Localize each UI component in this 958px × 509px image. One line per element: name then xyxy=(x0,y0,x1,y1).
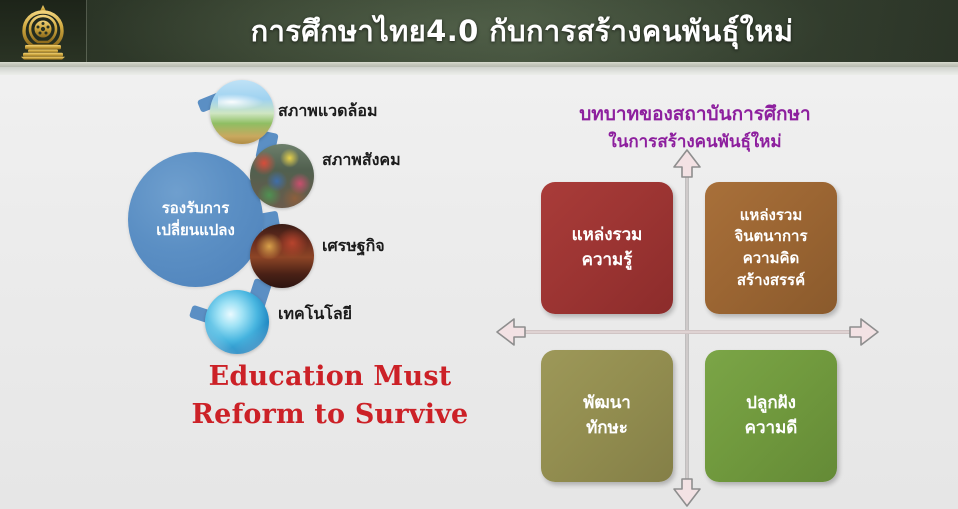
quadrant-bl-line-1: พัฒนา xyxy=(583,391,631,416)
crowd-of-people-photo xyxy=(250,144,314,208)
node-economy xyxy=(250,224,314,288)
arrow-down-icon xyxy=(671,478,703,508)
quadrant-creativity-hub[interactable]: แหล่งรวม จินตนาการ ความคิด สร้างสรรค์ xyxy=(705,182,837,314)
hub-label-line1: รองรับการ xyxy=(162,198,230,220)
slide-canvas: การศึกษาไทย4.0 กับการสร้างคนพันธุ์ใหม่ ร… xyxy=(0,0,958,509)
quadrant-tr-line-2: จินตนาการ xyxy=(734,226,807,248)
quadrant-knowledge-hub[interactable]: แหล่งรวม ความรู้ xyxy=(541,182,673,314)
node-technology xyxy=(205,290,269,354)
quadrant-tr-line-4: สร้างสรรค์ xyxy=(734,270,807,292)
node-label-environment: สภาพแวดล้อม xyxy=(278,99,378,124)
node-label-technology: เทคโนโลยี xyxy=(278,302,352,327)
right-heading-main: บทบาทของสถาบันการศึกษา xyxy=(520,100,870,129)
node-society xyxy=(250,144,314,208)
thai-ministry-emblem-icon xyxy=(12,2,74,60)
quadrant-tl-line-2: ความรู้ xyxy=(572,248,643,273)
node-label-society: สภาพสังคม xyxy=(322,148,401,173)
quadrant-bl-line-2: ทักษะ xyxy=(583,416,631,441)
arrow-right-icon xyxy=(848,316,880,348)
market-economy-photo xyxy=(250,224,314,288)
role-quadrant-matrix: แหล่งรวม ความรู้ แหล่งรวม จินตนาการ ความ… xyxy=(505,160,870,505)
arrow-up-icon xyxy=(671,148,703,178)
quadrant-virtue-cultivation[interactable]: ปลูกฝัง ความดี xyxy=(705,350,837,482)
slogan-line-1: Education Must xyxy=(175,358,485,396)
hub-circle: รองรับการ เปลี่ยนแปลง xyxy=(128,152,263,287)
arrow-left-icon xyxy=(495,316,527,348)
node-label-economy: เศรษฐกิจ xyxy=(322,234,385,259)
landscape-sky-field-photo xyxy=(210,80,274,144)
quadrant-skill-development[interactable]: พัฒนา ทักษะ xyxy=(541,350,673,482)
hub-label-line2: เปลี่ยนแปลง xyxy=(156,220,235,242)
slide-header: การศึกษาไทย4.0 กับการสร้างคนพันธุ์ใหม่ xyxy=(0,0,958,62)
matrix-horizontal-axis xyxy=(513,330,862,334)
change-drivers-diagram: รองรับการ เปลี่ยนแปลง สภาพแวดล้อม สภาพสั… xyxy=(110,72,450,362)
node-environment xyxy=(210,80,274,144)
page-title: การศึกษาไทย4.0 กับการสร้างคนพันธุ์ใหม่ xyxy=(86,0,958,62)
quadrant-tl-line-1: แหล่งรวม xyxy=(572,223,643,248)
quadrant-br-line-2: ความดี xyxy=(745,416,798,441)
quadrant-br-line-1: ปลูกฝัง xyxy=(745,391,798,416)
emblem-plate xyxy=(0,0,87,62)
quadrant-tr-line-1: แหล่งรวม xyxy=(734,205,807,227)
blue-technology-globe-photo xyxy=(205,290,269,354)
quadrant-tr-line-3: ความคิด xyxy=(734,248,807,270)
slogan-line-2: Reform to Survive xyxy=(175,396,485,434)
slogan-text: Education Must Reform to Survive xyxy=(175,358,485,435)
